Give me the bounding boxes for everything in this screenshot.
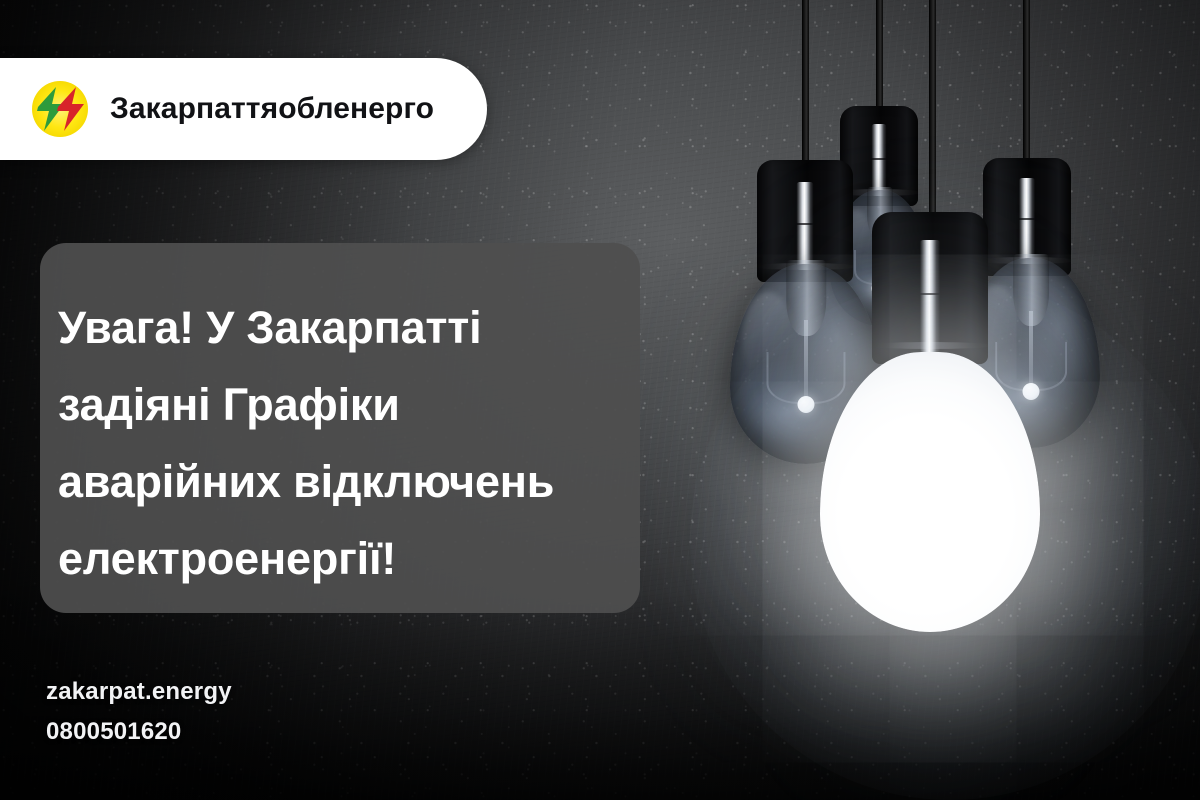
bulb-glass-lit-3	[820, 352, 1040, 632]
website-url[interactable]: zakarpat.energy	[46, 672, 232, 712]
headline-panel: Увага! У Закарпатті задіяні Графіки авар…	[40, 243, 640, 613]
headline-line-3: аварійних відключень	[58, 443, 604, 520]
bulb-tip-4	[1023, 383, 1040, 400]
headline-line-2: задіяні Графіки	[58, 366, 604, 443]
bulb-socket-chrome-2	[872, 124, 887, 196]
bulb-stem-4	[1029, 311, 1033, 387]
double-lightning-bolt-icon	[28, 77, 92, 141]
bulb-tip-1	[798, 396, 815, 413]
bulb-socket-chrome-1	[797, 182, 814, 270]
poster-canvas: Закарпаттяобленерго Увага! У Закарпатті …	[0, 0, 1200, 800]
footer-contacts: zakarpat.energy 0800501620	[46, 672, 232, 752]
headline-line-1: Увага! У Закарпатті	[58, 289, 604, 366]
bulb-cord-1	[802, 0, 809, 170]
bulb-cord-3	[929, 0, 936, 222]
headline-line-4: електроенергії!	[58, 520, 604, 597]
bulb-cord-4	[1023, 0, 1030, 168]
bulb-socket-chrome-3	[920, 240, 940, 352]
phone-number[interactable]: 0800501620	[46, 712, 232, 752]
bulb-stem-1	[804, 320, 808, 400]
brand-name: Закарпаттяобленерго	[110, 92, 434, 126]
bulb-socket-chrome-4	[1019, 178, 1035, 264]
brand-badge[interactable]: Закарпаттяобленерго	[0, 58, 487, 160]
bulb-cord-2	[876, 0, 883, 118]
